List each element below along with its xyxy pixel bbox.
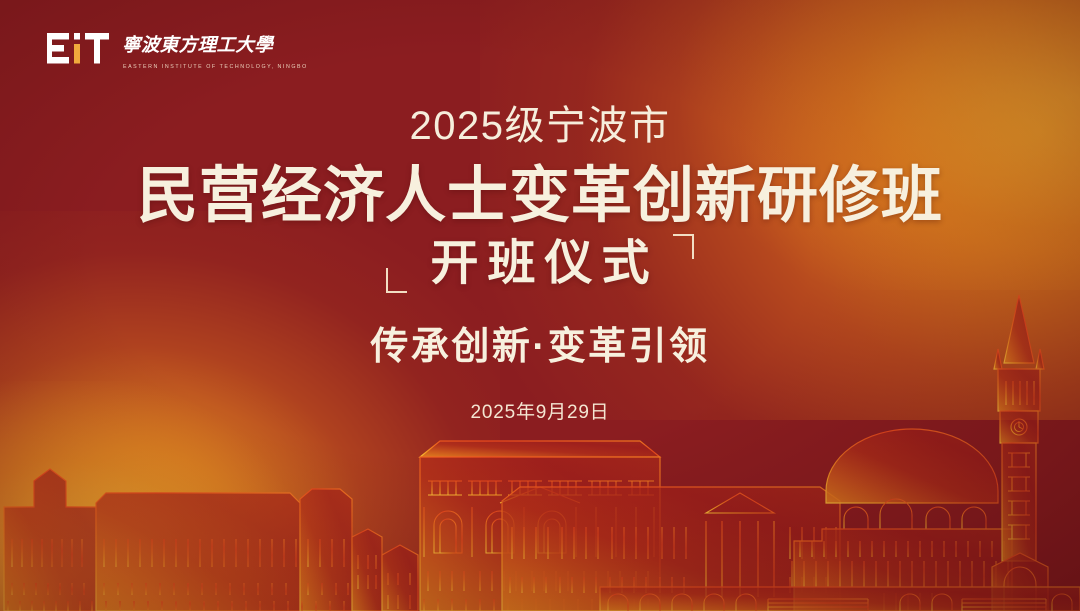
event-date: 2025年9月29日: [0, 402, 1080, 425]
ceremony-line-wrap: 开班仪式: [0, 236, 1080, 298]
ceremony-line: 开班仪式: [399, 236, 680, 291]
logo-wordmark: 寧波東方理工大學 EASTERN INSTITUTE OF TECHNOLOGY…: [122, 34, 308, 70]
campus-skyline-illustration: [0, 271, 1080, 611]
eit-logomark-icon: [47, 32, 109, 71]
bracket-top-right-icon: [673, 234, 694, 259]
year-line: 2025级宁波市: [0, 106, 1080, 146]
slogan-line: 传承创新·变革引领: [0, 325, 1080, 371]
logo-name-cn: 寧波東方理工大學: [122, 34, 308, 61]
university-logo[interactable]: 寧波東方理工大學 EASTERN INSTITUTE OF TECHNOLOGY…: [47, 32, 308, 71]
logo-name-en: EASTERN INSTITUTE OF TECHNOLOGY, NINGBO: [123, 64, 308, 70]
event-banner: 寧波東方理工大學 EASTERN INSTITUTE OF TECHNOLOGY…: [0, 0, 1080, 611]
svg-text:寧波東方理工大學: 寧波東方理工大學: [122, 34, 275, 56]
bracket-bottom-left-icon: [386, 268, 407, 293]
page-title: 民营经济人士变革创新研修班: [0, 160, 1080, 232]
ceremony-label: 开班仪式: [430, 237, 658, 290]
